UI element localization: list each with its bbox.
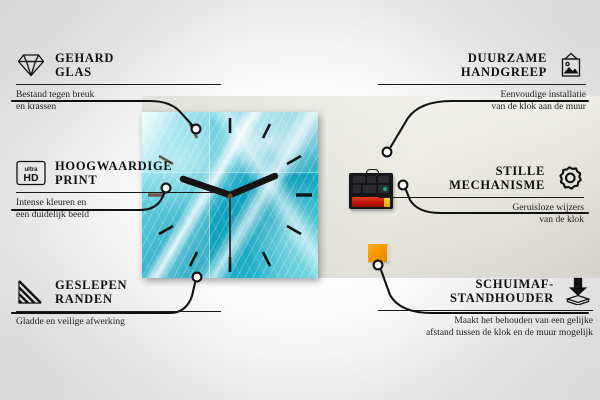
infographic-canvas: GEHARD GLAS Bestand tegen breuk en krass… [0,0,600,400]
feature-title: HOOGWAARDIGE PRINT [55,159,172,187]
desc-line-1: Bestand tegen breuk [16,89,221,101]
feature-description: Intense kleuren en een duidelijk beeld [16,197,221,220]
feature-divider [16,311,221,312]
desc-line-1: Gladde en veilige afwerking [16,316,221,328]
feature-description: Bestand tegen breuk en krassen [16,89,221,112]
feature-header: STILLE MECHANISME [379,163,584,193]
desc-line-2: een duidelijk beeld [16,209,221,221]
foam-spacer-pad [368,244,388,262]
title-line-2: GLAS [55,65,114,79]
title-line-2: RANDEN [55,292,127,306]
feature-divider [378,310,593,311]
desc-line-1: Eenvoudige installatie [378,89,586,101]
feature-gehard-glas: GEHARD GLAS Bestand tegen breuk en krass… [16,50,221,112]
feature-header: SCHUIMAF- STANDHOUDER [378,276,593,306]
diamond-icon [16,50,46,80]
title-line-1: STILLE [449,164,545,178]
title-line-1: DUURZAME [461,51,547,65]
desc-line-2: afstand tussen de klok en de muur mogeli… [378,327,593,339]
feature-title: GEHARD GLAS [55,51,114,79]
title-line-1: SCHUIMAF- [450,277,554,291]
feature-geslepen-randen: GESLEPEN RANDEN Gladde en veilige afwerk… [16,277,221,328]
hand-pivot [227,193,232,198]
title-line-2: HANDGREEP [461,65,547,79]
title-line-2: MECHANISME [449,178,545,192]
hd-label: HD [23,172,39,184]
feature-title: GESLEPEN RANDEN [55,278,127,306]
desc-line-2: van de klok aan de muur [378,101,586,113]
ultra-hd-icon: ultra HD [16,158,46,188]
feature-schuimaf-standhouder: SCHUIMAF- STANDHOUDER Maakt het behouden… [378,276,593,338]
feature-divider [379,197,584,198]
desc-line-1: Intense kleuren en [16,197,221,209]
feature-header: GESLEPEN RANDEN [16,277,221,307]
bevelled-edge-icon [16,277,46,307]
feature-description: Gladde en veilige afwerking [16,316,221,328]
down-arrow-pad-icon [563,276,593,306]
feature-header: DUURZAME HANDGREEP [378,50,586,80]
feature-header: GEHARD GLAS [16,50,221,80]
feature-divider [16,192,221,193]
title-line-1: GESLEPEN [55,278,127,292]
feature-header: ultra HD HOOGWAARDIGE PRINT [16,158,221,188]
framed-picture-icon [556,50,586,80]
desc-line-1: Maakt het behouden van een gelijke [378,315,593,327]
desc-line-2: van de klok [379,214,584,226]
feature-divider [378,84,586,85]
desc-line-1: Geruisloze wijzers [379,202,584,214]
title-line-1: HOOGWAARDIGE [55,159,172,173]
feature-description: Geruisloze wijzers van de klok [379,202,584,225]
feature-description: Eenvoudige installatie van de klok aan d… [378,89,586,112]
feature-title: STILLE MECHANISME [449,164,545,192]
title-line-2: STANDHOUDER [450,291,554,305]
title-line-1: GEHARD [55,51,114,65]
feature-hoogwaardige-print: ultra HD HOOGWAARDIGE PRINT Intense kleu… [16,158,221,220]
minute-hand [230,176,275,195]
feature-title: SCHUIMAF- STANDHOUDER [450,277,554,305]
feature-description: Maakt het behouden van een gelijke afsta… [378,315,593,338]
title-line-2: PRINT [55,173,172,187]
feature-title: DUURZAME HANDGREEP [461,51,547,79]
desc-line-2: en krassen [16,101,221,113]
feature-duurzame-handgreep: DUURZAME HANDGREEP Eenvoudige installati… [378,50,586,112]
feature-stille-mechanisme: STILLE MECHANISME Geruisloze wijzers van… [379,163,584,225]
feature-divider [16,84,221,85]
gear-icon [554,163,584,193]
